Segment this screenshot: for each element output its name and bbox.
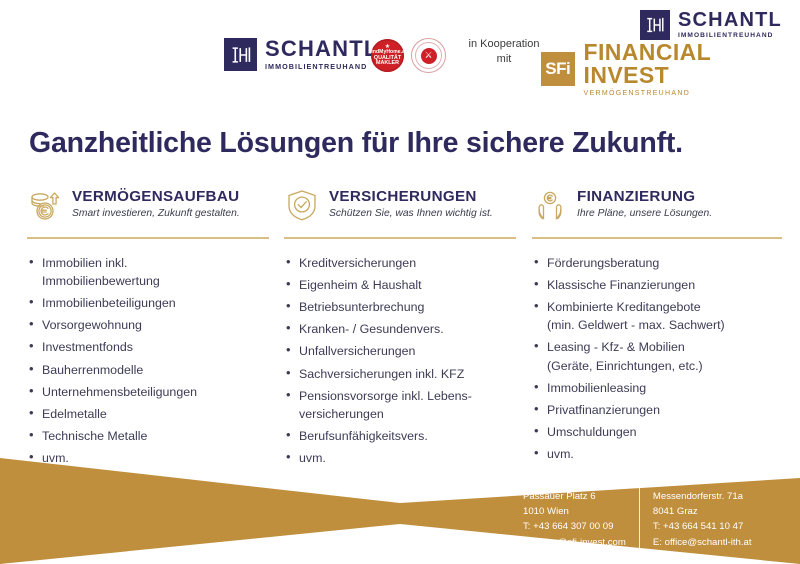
list-item: Privatfinanzierungen — [532, 401, 790, 419]
column-tagline: Schützen Sie, was Ihnen wichtig ist. — [329, 208, 493, 220]
cooperation-label: in Kooperation mit — [468, 37, 540, 67]
column-header: VERMÖGENSAUFBAU Smart investieren, Zukun… — [27, 186, 277, 228]
list-item-continuation: (Geräte, Einrichtungen, etc.) — [547, 357, 790, 375]
column-tagline: Ihre Pläne, unsere Lösungen. — [577, 208, 712, 220]
ith-logo-name: SCHANTL — [265, 38, 379, 60]
list-item: Kreditversicherungen — [284, 254, 524, 272]
column-divider — [532, 237, 782, 239]
list-item: Betriebsunterbrechung — [284, 298, 524, 316]
ith-monogram-icon — [224, 38, 257, 71]
list-item-continuation: Immobilienbewertung — [42, 272, 277, 290]
list-item-text: Vorsorgewohnung — [42, 318, 142, 332]
office-email[interactable]: E: office@sfi-invest.com — [523, 535, 626, 550]
sfi-financial-invest-logo: SFi FINANCIAL INVEST VERMÖGENSTREUHAND — [541, 41, 800, 97]
list-item-text: Eigenheim & Haushalt — [299, 278, 422, 292]
list-item: Immobilienbeteiligungen — [27, 294, 277, 312]
qualitaetsmakler-seal-icon: ★ FindMyHome.at QUALITÄT MAKLER — [371, 39, 404, 72]
column-title: VERSICHERUNGEN — [329, 188, 493, 205]
list-item-text: Kranken- / Gesundenvers. — [299, 322, 444, 336]
service-list-finanzierung: Förderungsberatung Klassische Finanzieru… — [532, 254, 790, 463]
office-street: Passauer Platz 6 — [523, 489, 626, 504]
ith-logo-subtitle-right: IMMOBILIENTREUHAND — [678, 33, 782, 40]
office-email[interactable]: E: office@schantl-ith.at — [653, 535, 752, 550]
list-item: Pensionsvorsorge inkl. Lebens-versicheru… — [284, 387, 524, 423]
list-item-continuation: versicherungen — [299, 405, 524, 423]
footer-contact-info: Office Wien: Passauer Platz 6 1010 Wien … — [523, 474, 752, 550]
list-item: Vorsorgewohnung — [27, 316, 277, 334]
column-title: FINANZIERUNG — [577, 188, 712, 205]
list-item-text: Bauherrenmodelle — [42, 363, 143, 377]
column-title: VERMÖGENSAUFBAU — [72, 188, 240, 205]
service-list-vermoegensaufbau: Immobilien inkl.Immobilienbewertung Immo… — [27, 254, 277, 467]
office-wien-block: Office Wien: Passauer Platz 6 1010 Wien … — [523, 474, 639, 550]
list-item: Kombinierte Kreditangebote(min. Geldwert… — [532, 298, 790, 334]
list-item-text: Privatfinanzierungen — [547, 403, 660, 417]
column-header: FINANZIERUNG Ihre Pläne, unsere Lösungen… — [532, 186, 790, 228]
column-versicherungen: VERSICHERUNGEN Schützen Sie, was Ihnen w… — [284, 186, 524, 471]
list-item-text: Sachversicherungen inkl. KFZ — [299, 367, 464, 381]
page-headline: Ganzheitliche Lösungen für Ihre sichere … — [29, 127, 683, 160]
list-item: Sachversicherungen inkl. KFZ — [284, 365, 524, 383]
ith-logo-name-right: SCHANTL — [678, 10, 782, 30]
hands-holding-euro-coin-icon — [532, 187, 568, 223]
shield-check-icon — [284, 187, 320, 223]
list-item: Eigenheim & Haushalt — [284, 276, 524, 294]
list-item-text: Kreditversicherungen — [299, 256, 416, 270]
list-item: Unternehmensbeteiligungen — [27, 383, 277, 401]
list-item: Immobilienleasing — [532, 379, 790, 397]
office-phone[interactable]: T: +43 664 307 00 09 — [523, 519, 626, 534]
ith-monogram-icon-right — [640, 10, 670, 40]
column-tagline: Smart investieren, Zukunft gestalten. — [72, 208, 240, 220]
list-item-text: Betriebsunterbrechung — [299, 300, 424, 314]
column-divider — [27, 237, 269, 239]
list-item-text: Immobilienbeteiligungen — [42, 296, 176, 310]
office-label: Office Wien: — [523, 474, 626, 489]
list-item: Edelmetalle — [27, 405, 277, 423]
column-header: VERSICHERUNGEN Schützen Sie, was Ihnen w… — [284, 186, 524, 228]
list-item-text: Leasing - Kfz- & Mobilien — [547, 340, 685, 354]
list-item-text: Unternehmensbeteiligungen — [42, 385, 197, 399]
ribbon-left-wedge — [0, 458, 400, 564]
sfi-logo-subtitle: VERMÖGENSTREUHAND — [584, 90, 800, 97]
office-street: Messendorferstr. 71a — [653, 489, 752, 504]
list-item: Immobilien inkl.Immobilienbewertung — [27, 254, 277, 290]
office-graz-block: Office Graz: Messendorferstr. 71a 8041 G… — [639, 474, 752, 550]
list-item: Umschuldungen — [532, 423, 790, 441]
list-item: Förderungsberatung — [532, 254, 790, 272]
ith-schantl-logo-right: SCHANTL IMMOBILIENTREUHAND — [640, 10, 782, 40]
logo-bar: SCHANTL IMMOBILIENTREUHAND ★ FindMyHome.… — [0, 0, 800, 105]
list-item: Leasing - Kfz- & Mobilien(Geräte, Einric… — [532, 338, 790, 374]
office-city: 1010 Wien — [523, 504, 626, 519]
list-item: Bauherrenmodelle — [27, 361, 277, 379]
ith-schantl-logo-left: SCHANTL IMMOBILIENTREUHAND — [224, 38, 379, 71]
list-item: Klassische Finanzierungen — [532, 276, 790, 294]
list-item: Unfallversicherungen — [284, 342, 524, 360]
list-item-text: Kombinierte Kreditangebote — [547, 300, 701, 314]
service-columns: VERMÖGENSAUFBAU Smart investieren, Zukun… — [0, 186, 800, 471]
office-phone[interactable]: T: +43 664 541 10 47 — [653, 519, 752, 534]
ith-logo-subtitle: IMMOBILIENTREUHAND — [265, 63, 379, 70]
list-item-continuation: (min. Geldwert - max. Sachwert) — [547, 316, 790, 334]
office-label: Office Graz: — [653, 474, 752, 489]
column-divider — [284, 237, 516, 239]
coins-euro-growth-icon — [27, 187, 63, 223]
list-item-text: Immobilienleasing — [547, 381, 646, 395]
seal-ring — [415, 42, 442, 69]
sfi-logo-name: FINANCIAL INVEST — [584, 41, 800, 87]
list-item: Investmentfonds — [27, 338, 277, 356]
service-list-versicherungen: Kreditversicherungen Eigenheim & Haushal… — [284, 254, 524, 467]
quality-seals: ★ FindMyHome.at QUALITÄT MAKLER ⚔ — [371, 38, 446, 73]
austrian-crest-seal-icon: ⚔ — [411, 38, 446, 73]
office-city: 8041 Graz — [653, 504, 752, 519]
list-item-text: Edelmetalle — [42, 407, 107, 421]
list-item-text: Immobilien inkl. — [42, 256, 127, 270]
list-item-text: Umschuldungen — [547, 425, 637, 439]
list-item-text: Investmentfonds — [42, 340, 133, 354]
list-item: Kranken- / Gesundenvers. — [284, 320, 524, 338]
list-item-text: Unfallversicherungen — [299, 344, 415, 358]
seal-line-2: MAKLER — [376, 61, 399, 67]
column-vermoegensaufbau: VERMÖGENSAUFBAU Smart investieren, Zukun… — [27, 186, 277, 471]
column-finanzierung: FINANZIERUNG Ihre Pläne, unsere Lösungen… — [532, 186, 790, 471]
sfi-monogram-icon: SFi — [541, 52, 575, 86]
list-item-text: Klassische Finanzierungen — [547, 278, 695, 292]
list-item-text: Förderungsberatung — [547, 256, 659, 270]
list-item-text: Pensionsvorsorge inkl. Lebens- — [299, 389, 472, 403]
